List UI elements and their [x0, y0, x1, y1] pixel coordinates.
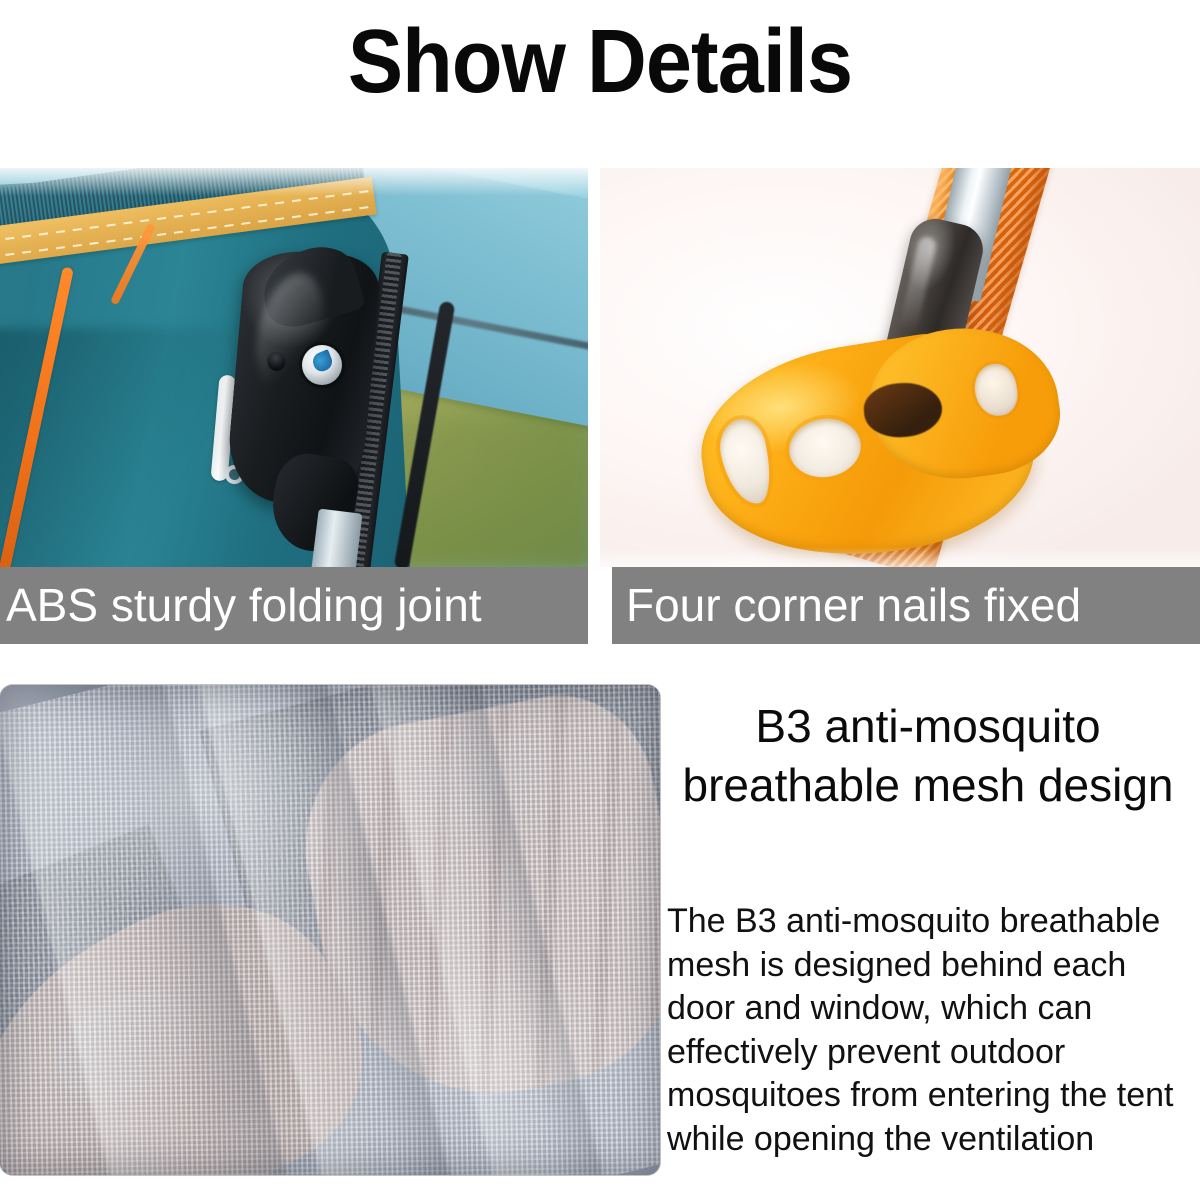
mesh-section-heading: B3 anti-mosquito breathable mesh design — [668, 697, 1188, 815]
silver-tent-pole — [311, 509, 362, 567]
page-title: Show Details — [48, 14, 1152, 110]
caption-abs-folding-joint: ABS sturdy folding joint — [0, 567, 588, 644]
abs-folding-joint-photo — [0, 168, 588, 567]
mesh-section-description: The B3 anti-mosquito breathable mesh is … — [667, 900, 1200, 1161]
abs-joint-vent-hole — [267, 350, 286, 371]
caption-four-corner-nails: Four corner nails fixed — [612, 567, 1200, 644]
corner-nail-photo — [600, 168, 1200, 567]
anti-mosquito-mesh-photo — [0, 685, 660, 1175]
photo-vignette — [0, 685, 660, 1175]
photo-top-fade — [0, 168, 588, 196]
photo-bottom-fade — [600, 547, 1200, 567]
